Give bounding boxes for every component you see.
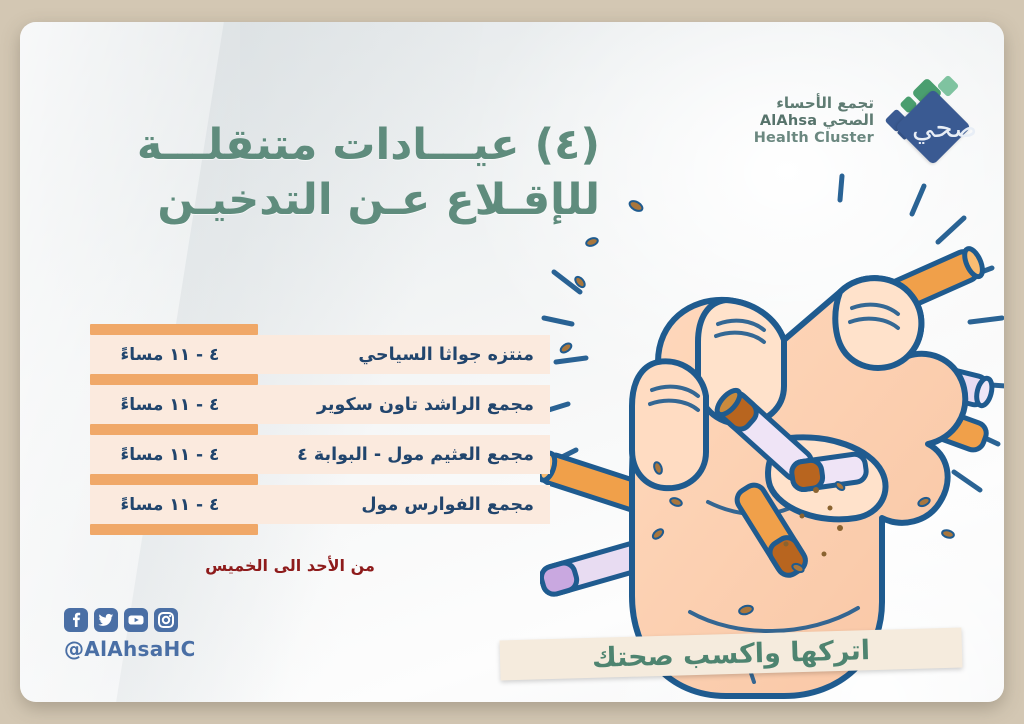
venue-name: مجمع العثيم مول - البوابة ٤ [240, 445, 534, 465]
brand-name-arabic-line1: تجمع الأحساء [754, 95, 874, 113]
headline-line-2: للإقـلاع عـن التدخيـن [80, 173, 600, 228]
brand-logo-text: تجمع الأحساء AlAhsa الصحي Health Cluster [754, 95, 874, 148]
table-row: مجمع العثيم مول - البوابة ٤ ٤ - ١١ مساءً [90, 435, 550, 474]
schedule-divider-3 [90, 474, 258, 485]
logo-calligraphy-glyph: صحي [912, 108, 956, 148]
brand-diamond-mark-icon: صحي [882, 78, 968, 164]
social-media-block: @AlAhsaHC [64, 608, 196, 661]
schedule-divider-2 [90, 424, 258, 435]
fist-crushing-cigarettes-illustration [540, 172, 1004, 702]
venue-time: ٤ - ١١ مساءً [100, 345, 240, 365]
brand-name-arabic-line2: الصحي [822, 111, 874, 129]
facebook-icon[interactable] [64, 608, 88, 632]
brand-logo: تجمع الأحساء AlAhsa الصحي Health Cluster… [754, 78, 968, 164]
venue-name: مجمع الراشد تاون سكوير [240, 395, 534, 415]
schedule-divider-1 [90, 374, 258, 385]
schedule-divider-4 [90, 524, 258, 535]
instagram-icon[interactable] [154, 608, 178, 632]
table-row: مجمع الفوارس مول ٤ - ١١ مساءً [90, 485, 550, 524]
poster-card: تجمع الأحساء AlAhsa الصحي Health Cluster… [20, 22, 1004, 702]
venue-time: ٤ - ١١ مساءً [100, 445, 240, 465]
twitter-icon[interactable] [94, 608, 118, 632]
venue-time: ٤ - ١١ مساءً [100, 495, 240, 515]
clinic-schedule-table: منتزه جواثا السياحي ٤ - ١١ مساءً مجمع ال… [90, 324, 550, 535]
brand-name-english-line1: AlAhsa [760, 113, 817, 129]
table-row: منتزه جواثا السياحي ٤ - ١١ مساءً [90, 335, 550, 374]
table-row: مجمع الراشد تاون سكوير ٤ - ١١ مساءً [90, 385, 550, 424]
venue-name: مجمع الفوارس مول [240, 495, 534, 515]
schedule-days-note: من الأحد الى الخميس [90, 556, 490, 575]
social-handle[interactable]: @AlAhsaHC [64, 637, 196, 661]
brand-name-line2: AlAhsa الصحي [754, 112, 874, 130]
slogan-text: اتركها واكسب صحتك [592, 635, 871, 674]
venue-time: ٤ - ١١ مساءً [100, 395, 240, 415]
page-title: (٤) عيـــادات متنقلـــة للإقـلاع عـن الت… [80, 118, 600, 228]
social-icons-row [64, 608, 196, 632]
headline-line-1: (٤) عيـــادات متنقلـــة [80, 118, 600, 173]
youtube-icon[interactable] [124, 608, 148, 632]
brand-name-english-line2: Health Cluster [754, 130, 874, 147]
schedule-divider-0 [90, 324, 258, 335]
venue-name: منتزه جواثا السياحي [240, 345, 534, 365]
